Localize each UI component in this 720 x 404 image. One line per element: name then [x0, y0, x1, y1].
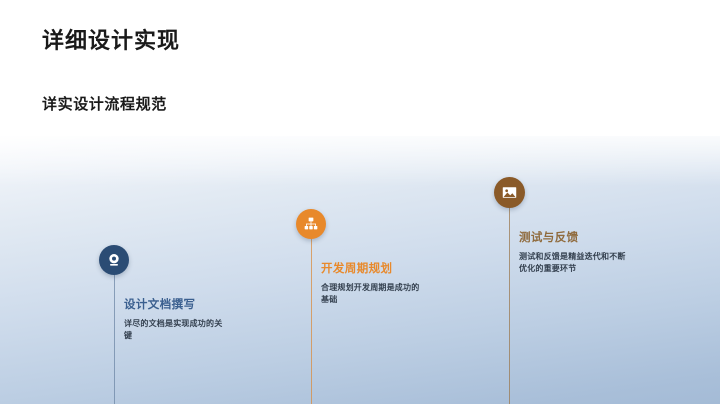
- timeline-item-title-3: 测试与反馈: [519, 232, 579, 246]
- timeline-marker-2[interactable]: [296, 209, 326, 239]
- timeline-item-title-1: 设计文档撰写: [124, 299, 195, 313]
- image-icon: [501, 184, 518, 201]
- timeline-item-description-1: 详尽的文档是实现成功的关键: [124, 318, 228, 343]
- timeline-marker-3[interactable]: [494, 177, 525, 208]
- sitemap-icon: [303, 216, 319, 232]
- timeline-item-description-3: 测试和反馈是精益迭代和不断优化的重要环节: [519, 251, 627, 276]
- timeline-item-title-2: 开发周期规划: [321, 263, 392, 277]
- webcam-icon: [106, 252, 122, 268]
- timeline-connector-line-1: [114, 274, 115, 404]
- slide-canvas: 详细设计实现 详实设计流程规范 设计文档撰写 详尽的文档是实现成功的关键: [0, 0, 720, 404]
- timeline-marker-1[interactable]: [99, 245, 129, 275]
- slide-header: 详细设计实现 详实设计流程规范: [0, 0, 720, 136]
- page-subtitle: 详实设计流程规范: [42, 96, 167, 114]
- timeline-connector-line-3: [509, 207, 510, 404]
- page-title: 详细设计实现: [42, 28, 180, 54]
- timeline-item-description-2: 合理规划开发周期是成功的基础: [321, 282, 425, 307]
- timeline-connector-line-2: [311, 238, 312, 404]
